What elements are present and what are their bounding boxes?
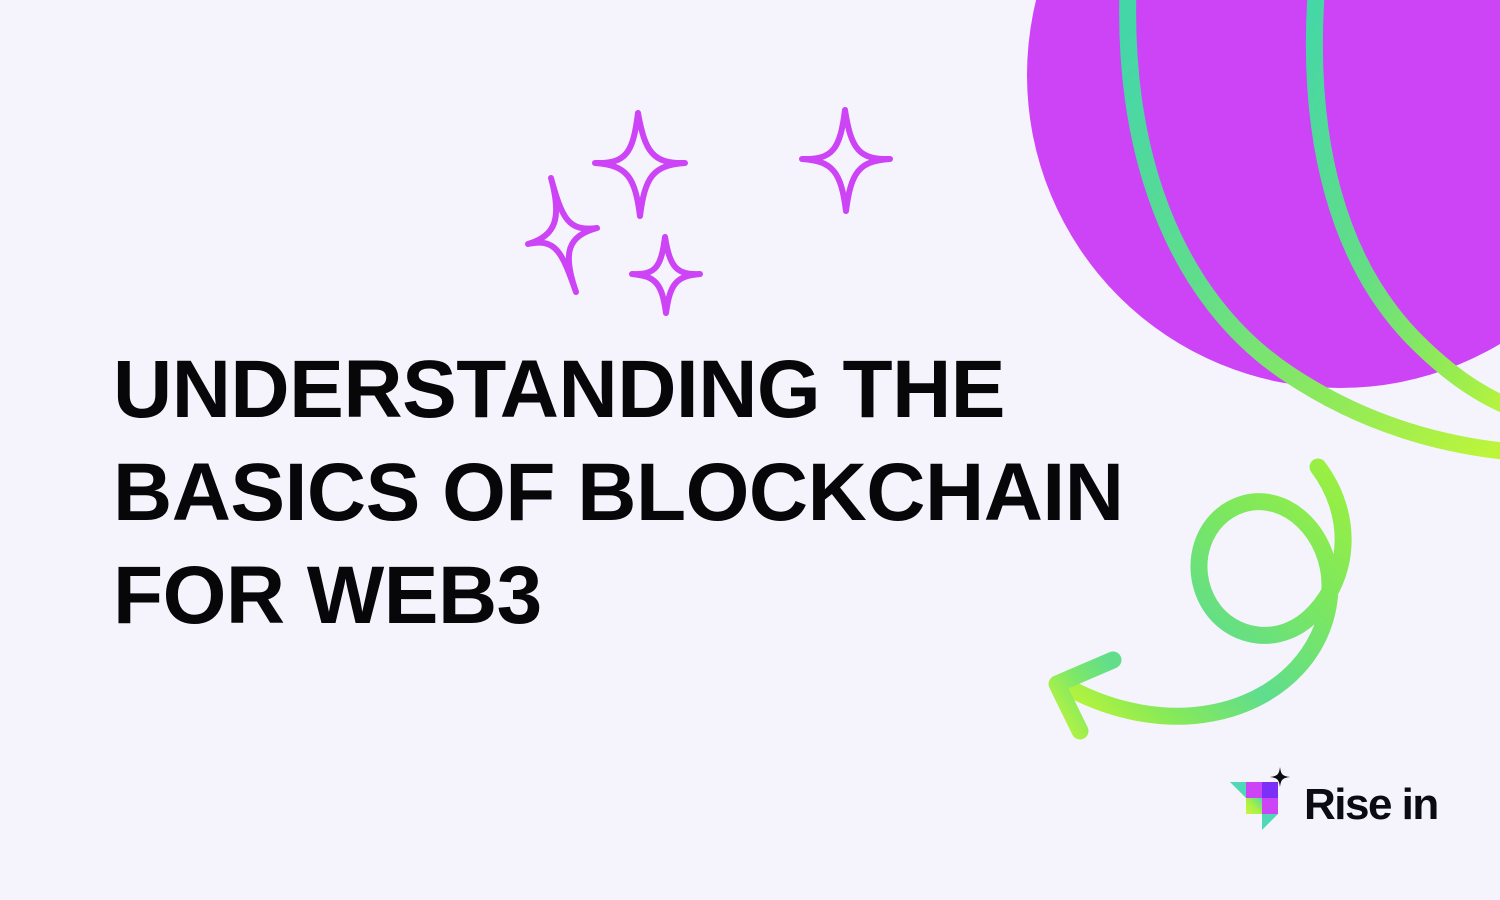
- purple-circle-shape: [1027, 0, 1500, 388]
- logo-triangle-bottom-right: [1262, 814, 1278, 830]
- sparkle-outline-icon: [528, 178, 597, 292]
- brand-lockup[interactable]: Rise in: [1228, 770, 1438, 832]
- page-title-line-3: FOR WEB3: [113, 544, 1173, 647]
- page-title-line-1: UNDERSTANDING THE: [113, 338, 1173, 441]
- green-arc-inner: [1314, 0, 1500, 412]
- sparkle-outline-icon: [802, 110, 890, 211]
- logo-square-top-left: [1246, 782, 1262, 798]
- sparkle-outline-icon: [595, 113, 685, 216]
- sparkle-icon: [1269, 766, 1291, 788]
- brand-name: Rise in: [1304, 783, 1438, 827]
- curly-arrow-head: [1057, 660, 1113, 731]
- green-arc-outer: [1128, 0, 1500, 452]
- logo-square-bottom-left: [1246, 798, 1262, 814]
- sparkle-outline-icon: [632, 237, 700, 313]
- rise-in-logo-mark: [1228, 770, 1290, 832]
- logo-triangle-top-left: [1230, 782, 1246, 798]
- page-title-line-2: BASICS OF BLOCKCHAIN: [113, 441, 1173, 544]
- page-title: UNDERSTANDING THE BASICS OF BLOCKCHAIN F…: [113, 338, 1173, 647]
- blog-cover-banner: UNDERSTANDING THE BASICS OF BLOCKCHAIN F…: [0, 0, 1500, 900]
- logo-square-bottom-right: [1262, 798, 1278, 814]
